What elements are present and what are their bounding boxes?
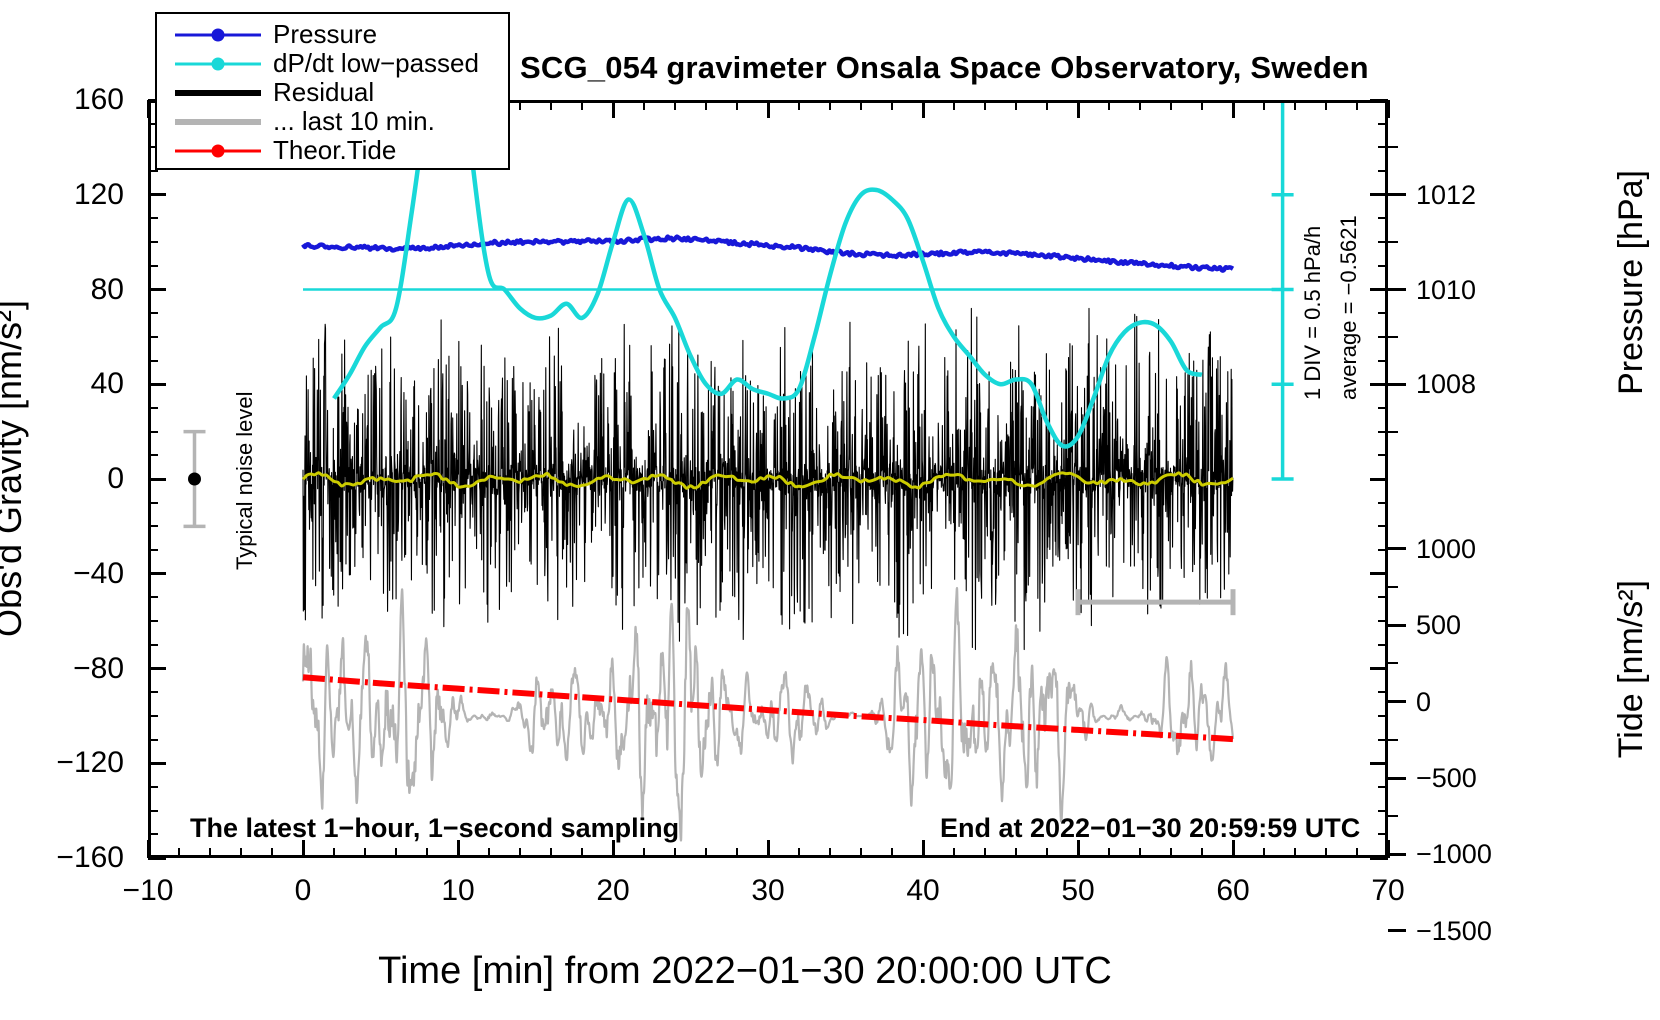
y-tick-left — [148, 407, 158, 409]
y-tick-right-inner — [1378, 407, 1388, 409]
y-tick-right-inner — [1378, 265, 1388, 267]
right-tide-tick — [1388, 777, 1406, 780]
x-tick-top — [1263, 100, 1265, 110]
x-tick-bottom — [364, 848, 366, 858]
x-tick-top — [736, 100, 738, 110]
x-axis-tick-label: 10 — [441, 876, 474, 906]
y-tick-left — [148, 383, 166, 386]
x-tick-bottom — [1263, 848, 1265, 858]
y-tick-right-inner — [1378, 502, 1388, 504]
x-tick-bottom — [643, 848, 645, 858]
x-axis-tick-label: 40 — [906, 876, 939, 906]
y-tick-left — [148, 288, 166, 291]
y-tick-left — [148, 549, 158, 551]
legend-label: dP/dt low−passed — [273, 48, 479, 79]
right-tide-minor-tick — [1388, 586, 1398, 588]
y-tick-right-inner — [1378, 549, 1388, 551]
y-tick-right-inner — [1378, 170, 1388, 172]
x-tick-top — [1232, 100, 1235, 118]
y-tick-left — [148, 762, 166, 765]
x-tick-bottom — [1015, 848, 1017, 858]
x-tick-bottom — [1108, 848, 1110, 858]
x-tick-bottom — [736, 848, 738, 858]
x-tick-bottom — [550, 848, 552, 858]
y-tick-right-inner — [1378, 644, 1388, 646]
y-tick-left — [148, 620, 158, 622]
x-axis-tick-label: 70 — [1371, 876, 1404, 906]
chart-title: SCG_054 gravimeter Onsala Space Observat… — [520, 50, 1369, 86]
y-tick-right-inner — [1370, 478, 1388, 481]
y-tick-right-inner — [1378, 715, 1388, 717]
right-pressure-tick — [1388, 193, 1406, 196]
y-tick-left — [148, 170, 158, 172]
right-tide-tick — [1388, 853, 1406, 856]
x-tick-top — [891, 100, 893, 110]
x-axis-tick-label: 0 — [295, 876, 312, 906]
note-scale-div: 1 DIV = 0.5 hPa/h — [1300, 226, 1326, 400]
y-tick-right-inner — [1378, 360, 1388, 362]
x-tick-top — [798, 100, 800, 110]
y-tick-left — [148, 810, 158, 812]
x-tick-bottom — [1294, 848, 1296, 858]
x-tick-bottom — [1356, 848, 1358, 858]
x-tick-top — [643, 100, 645, 110]
legend[interactable]: PressuredP/dt low−passedResidual... last… — [155, 12, 510, 170]
x-tick-top — [953, 100, 955, 110]
y-tick-left — [148, 478, 166, 481]
x-tick-top — [1077, 100, 1080, 118]
y-tick-right-inner — [1378, 596, 1388, 598]
y-tick-right-inner — [1378, 833, 1388, 835]
x-tick-top — [1046, 100, 1048, 110]
x-tick-bottom — [1139, 848, 1141, 858]
y-tick-left — [148, 454, 158, 456]
right-tide-tick-label: −1500 — [1416, 918, 1492, 945]
y-axis-tick-label: 40 — [0, 369, 124, 399]
x-tick-bottom — [178, 848, 180, 858]
x-tick-top — [674, 100, 676, 110]
legend-dpdt[interactable]: dP/dt low−passed — [175, 49, 508, 78]
x-tick-bottom — [953, 848, 955, 858]
x-tick-bottom — [488, 848, 490, 858]
y-tick-left — [148, 715, 158, 717]
legend-label: ... last 10 min. — [273, 106, 435, 137]
y-tick-right-inner — [1378, 810, 1388, 812]
x-tick-bottom — [209, 848, 211, 858]
y-tick-right-inner — [1378, 312, 1388, 314]
y-tick-right-inner — [1378, 739, 1388, 741]
x-axis-tick-label: 20 — [596, 876, 629, 906]
x-axis-tick-label: 60 — [1216, 876, 1249, 906]
x-tick-bottom — [519, 848, 521, 858]
x-tick-top — [1108, 100, 1110, 110]
legend-dot-icon — [212, 28, 225, 41]
legend-dot-icon — [212, 144, 225, 157]
legend-symbol-legend-pressure — [175, 25, 261, 45]
y-tick-right-inner — [1378, 431, 1388, 433]
right-pressure-tick — [1388, 288, 1406, 291]
legend-tide[interactable]: Theor.Tide — [175, 136, 508, 165]
legend-last10[interactable]: ... last 10 min. — [175, 107, 508, 136]
right-tide-minor-tick — [1388, 815, 1398, 817]
note-scale-average: average = −0.5621 — [1336, 215, 1362, 400]
y-tick-left — [148, 431, 158, 433]
x-tick-bottom — [395, 848, 397, 858]
right-pressure-tick-label: 1012 — [1416, 182, 1476, 209]
x-tick-top — [1139, 100, 1141, 110]
x-tick-top — [705, 100, 707, 110]
y-tick-left — [148, 786, 158, 788]
x-tick-bottom — [922, 840, 925, 858]
x-tick-top — [1170, 100, 1172, 110]
y-tick-right-inner — [1370, 193, 1388, 196]
legend-line-icon — [175, 90, 261, 96]
y-tick-left — [148, 360, 158, 362]
legend-symbol-legend-dpdt — [175, 54, 261, 74]
y-tick-right-inner — [1370, 288, 1388, 291]
x-tick-bottom — [240, 848, 242, 858]
right-tide-tick — [1388, 624, 1406, 627]
right-tide-minor-tick — [1388, 662, 1398, 664]
y-tick-left — [148, 667, 166, 670]
x-tick-bottom — [1325, 848, 1327, 858]
y-tick-left — [148, 644, 158, 646]
x-tick-bottom — [984, 848, 986, 858]
y-tick-right-inner — [1378, 691, 1388, 693]
y-tick-left — [148, 857, 166, 860]
y-tick-left — [148, 596, 158, 598]
x-tick-top — [550, 100, 552, 110]
y-tick-right-inner — [1370, 99, 1388, 102]
x-tick-top — [829, 100, 831, 110]
x-tick-bottom — [581, 848, 583, 858]
legend-symbol-legend-last10 — [175, 112, 261, 132]
y-tick-right-inner — [1378, 123, 1388, 125]
x-tick-bottom — [674, 848, 676, 858]
x-tick-bottom — [271, 848, 273, 858]
x-axis-title: Time [min] from 2022−01−30 20:00:00 UTC — [0, 950, 1490, 993]
right-tide-tick — [1388, 547, 1406, 550]
y-axis-tick-label: 160 — [0, 85, 124, 115]
y-tick-left — [148, 691, 158, 693]
x-axis-tick-label: −10 — [123, 876, 174, 906]
y-tick-right-inner — [1378, 525, 1388, 527]
x-tick-top — [1325, 100, 1327, 110]
right-pressure-minor-tick — [1388, 241, 1398, 243]
x-tick-top — [1201, 100, 1203, 110]
x-tick-top — [922, 100, 925, 118]
note-bottom-right: End at 2022−01−30 20:59:59 UTC — [940, 813, 1360, 844]
y-tick-left — [148, 502, 158, 504]
x-tick-bottom — [147, 840, 150, 858]
x-tick-bottom — [426, 848, 428, 858]
y-tick-right-inner — [1378, 454, 1388, 456]
right-tide-tick — [1388, 700, 1406, 703]
y-tick-right-inner — [1370, 667, 1388, 670]
plot-frame — [148, 100, 1388, 858]
x-tick-bottom — [1201, 848, 1203, 858]
y-axis-tick-label: 120 — [0, 180, 124, 210]
legend-symbol-legend-residual — [175, 83, 261, 103]
y-axis-tick-label: −120 — [0, 748, 124, 778]
x-tick-bottom — [891, 848, 893, 858]
right-pressure-tick-label: 1008 — [1416, 371, 1476, 398]
right-tide-tick-label: −500 — [1416, 765, 1477, 792]
right-tide-tick — [1388, 929, 1406, 932]
y-tick-left — [148, 312, 158, 314]
x-axis-tick-label: 30 — [751, 876, 784, 906]
right-tide-tick-label: −1000 — [1416, 841, 1492, 868]
y-tick-right-inner — [1370, 857, 1388, 860]
chart-canvas: SCG_054 gravimeter Onsala Space Observat… — [0, 0, 1660, 1020]
y-tick-right-inner — [1370, 762, 1388, 765]
x-tick-top — [581, 100, 583, 110]
y-tick-left — [148, 525, 158, 527]
x-tick-bottom — [1046, 848, 1048, 858]
x-tick-top — [767, 100, 770, 118]
x-tick-top — [1356, 100, 1358, 110]
y-axis-tick-label: −80 — [0, 654, 124, 684]
y-tick-left — [148, 241, 158, 243]
right-pressure-minor-tick — [1388, 431, 1398, 433]
right-pressure-axis-title: Pressure [hPa] — [1612, 170, 1651, 395]
y-axis-tick-label: −160 — [0, 843, 124, 873]
x-tick-bottom — [1170, 848, 1172, 858]
right-pressure-tick — [1388, 383, 1406, 386]
x-tick-top — [612, 100, 615, 118]
x-axis-tick-label: 50 — [1061, 876, 1094, 906]
x-tick-top — [1387, 100, 1390, 118]
y-tick-left — [148, 193, 166, 196]
legend-line-icon — [175, 119, 261, 125]
y-tick-left — [148, 265, 158, 267]
y-tick-left — [148, 217, 158, 219]
x-tick-top — [519, 100, 521, 110]
y-axis-tick-label: 0 — [0, 464, 124, 494]
y-axis-tick-label: 80 — [0, 275, 124, 305]
legend-label: Residual — [273, 77, 374, 108]
y-tick-right-inner — [1378, 620, 1388, 622]
right-pressure-minor-tick — [1388, 336, 1398, 338]
y-tick-left — [148, 336, 158, 338]
legend-symbol-legend-tide — [175, 141, 261, 161]
x-tick-top — [1294, 100, 1296, 110]
x-tick-bottom — [829, 848, 831, 858]
y-tick-left — [148, 833, 158, 835]
x-tick-top — [984, 100, 986, 110]
right-tide-axis-title: Tide [nm/s²] — [1612, 580, 1651, 758]
right-pressure-tick-label: 1010 — [1416, 277, 1476, 304]
x-tick-bottom — [767, 840, 770, 858]
y-tick-right-inner — [1378, 336, 1388, 338]
right-tide-tick-label: 1000 — [1416, 536, 1476, 563]
x-tick-bottom — [705, 848, 707, 858]
right-tide-tick-label: 500 — [1416, 612, 1461, 639]
legend-label: Pressure — [273, 19, 377, 50]
x-tick-top — [147, 100, 150, 118]
y-tick-right-inner — [1378, 217, 1388, 219]
x-tick-bottom — [333, 848, 335, 858]
y-axis-tick-label: −40 — [0, 559, 124, 589]
y-tick-left — [148, 739, 158, 741]
right-tide-minor-tick — [1388, 739, 1398, 741]
right-tide-tick-label: 0 — [1416, 689, 1431, 716]
y-tick-right-inner — [1378, 146, 1388, 148]
x-tick-top — [1015, 100, 1017, 110]
legend-residual[interactable]: Residual — [175, 78, 508, 107]
x-tick-bottom — [798, 848, 800, 858]
y-tick-right-inner — [1370, 572, 1388, 575]
y-tick-right-inner — [1378, 786, 1388, 788]
x-tick-top — [860, 100, 862, 110]
x-tick-bottom — [860, 848, 862, 858]
note-bottom-left: The latest 1−hour, 1−second sampling — [190, 813, 679, 844]
y-tick-left — [148, 572, 166, 575]
legend-dot-icon — [212, 57, 225, 70]
legend-label: Theor.Tide — [273, 135, 396, 166]
y-tick-right-inner — [1370, 383, 1388, 386]
note-typical-noise-level: Typical noise level — [232, 391, 258, 570]
y-tick-right-inner — [1378, 241, 1388, 243]
right-pressure-minor-tick — [1388, 146, 1398, 148]
legend-pressure[interactable]: Pressure — [175, 20, 508, 49]
